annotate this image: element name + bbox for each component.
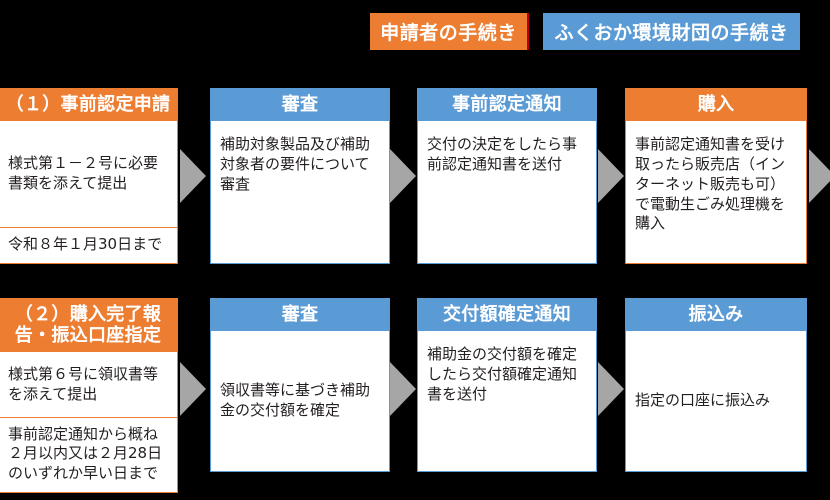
flow-step-review-2: 審査 領収書等に基づき補助金の交付額を確定	[210, 298, 390, 472]
flow-step-purchase: 購入 事前認定通知書を受け取ったら販売店（インターネット販売も可）で電動生ごみ処…	[625, 88, 807, 264]
legend-applicant-label: 申請者の手続き	[380, 18, 517, 45]
step-header: （２）購入完了報告・振込口座指定	[0, 299, 177, 352]
step-body: 補助対象製品及び補助対象者の要件について審査	[211, 121, 389, 263]
flow-step-bank-transfer: 振込み 指定の口座に振込み	[625, 298, 807, 472]
flow-step-pre-approval-notice: 事前認定通知 交付の決定をしたら事前認定通知書を送付	[417, 88, 597, 264]
step-body: 様式第１－２号に必要書類を添えて提出	[0, 121, 177, 227]
legend-foundation-label: ふくおか環境財団の手続き	[554, 18, 788, 45]
step-header: 振込み	[626, 299, 806, 331]
step-body: 事前認定通知書を受け取ったら販売店（インターネット販売も可）で電動生ごみ処理機を…	[626, 121, 806, 263]
arrow-right-icon	[390, 149, 416, 203]
step-body: 指定の口座に振込み	[626, 331, 806, 471]
step-body: 補助金の交付額を確定したら交付額確定通知書を送付	[418, 331, 596, 471]
legend-foundation-process: ふくおか環境財団の手続き	[543, 13, 800, 50]
step-deadline: 令和８年１月30日まで	[0, 227, 177, 263]
arrow-right-icon	[390, 362, 416, 416]
step-header: 購入	[626, 89, 806, 121]
step-header: 事前認定通知	[418, 89, 596, 121]
step-body: 様式第６号に領収書等を添えて提出	[0, 352, 177, 416]
arrow-right-icon	[598, 362, 624, 416]
legend-applicant-process: 申請者の手続き	[370, 13, 529, 50]
step-header: 交付額確定通知	[418, 299, 596, 331]
flow-step-review-1: 審査 補助対象製品及び補助対象者の要件について審査	[210, 88, 390, 264]
arrow-right-icon	[180, 149, 206, 203]
arrow-right-icon	[598, 149, 624, 203]
step-body: 領収書等に基づき補助金の交付額を確定	[211, 331, 389, 471]
flow-step-purchase-report: （２）購入完了報告・振込口座指定 様式第６号に領収書等を添えて提出 事前認定通知…	[0, 298, 178, 493]
step-body: 交付の決定をしたら事前認定通知書を送付	[418, 121, 596, 263]
flow-step-pre-approval-application: （１）事前認定申請 様式第１－２号に必要書類を添えて提出 令和８年１月30日まで	[0, 88, 178, 264]
step-deadline: 事前認定通知から概ね２月以内又は２月28日のいずれか早い日まで	[0, 417, 177, 492]
flow-step-grant-amount-notice: 交付額確定通知 補助金の交付額を確定したら交付額確定通知書を送付	[417, 298, 597, 472]
step-header: （１）事前認定申請	[0, 89, 177, 121]
arrow-right-icon	[180, 362, 206, 416]
arrow-right-icon	[809, 149, 830, 203]
step-header: 審査	[211, 299, 389, 331]
step-header: 審査	[211, 89, 389, 121]
